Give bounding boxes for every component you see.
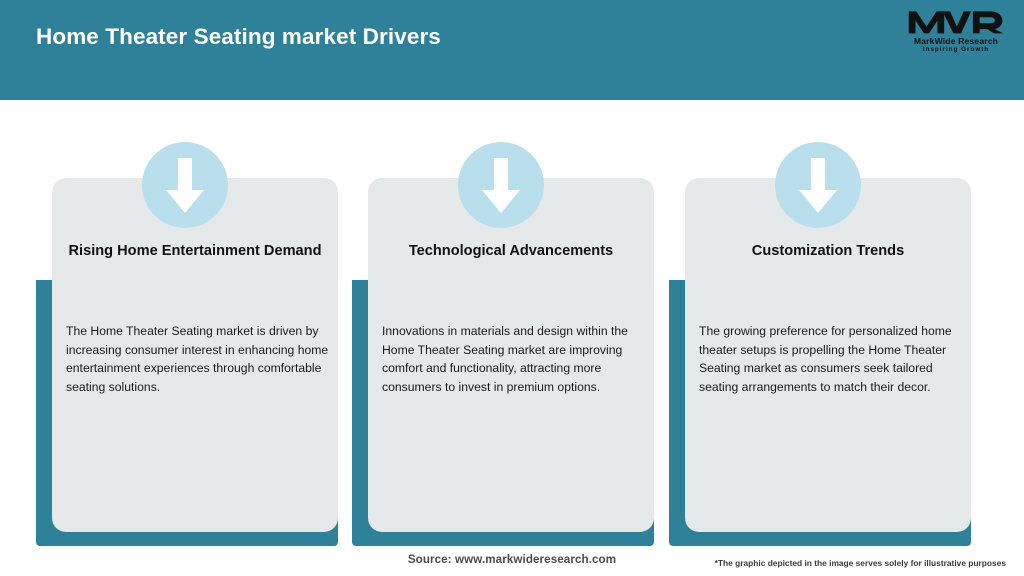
- card-title: Technological Advancements: [382, 240, 640, 262]
- down-arrow-glyph: [797, 158, 839, 214]
- driver-card: Rising Home Entertainment Demand The Hom…: [36, 100, 338, 546]
- brand-logo: MarkWide Research Inspiring Growth: [904, 8, 1008, 60]
- driver-card: Technological Advancements Innovations i…: [352, 100, 654, 546]
- card-title: Customization Trends: [699, 240, 957, 262]
- logo-tagline: Inspiring Growth: [904, 46, 1008, 54]
- card-body-text: The Home Theater Seating market is drive…: [66, 322, 334, 396]
- card-body-text: Innovations in materials and design with…: [382, 322, 650, 396]
- card-body-text: The growing preference for personalized …: [699, 322, 967, 396]
- page-title: Home Theater Seating market Drivers: [36, 24, 441, 50]
- mwr-logomark-icon: [904, 8, 1008, 35]
- down-arrow-glyph: [164, 158, 206, 214]
- down-arrow-glyph: [480, 158, 522, 214]
- disclaimer-note: *The graphic depicted in the image serve…: [715, 558, 1006, 568]
- driver-card: Customization Trends The growing prefere…: [669, 100, 971, 546]
- page-header: Home Theater Seating market Drivers Mark…: [0, 0, 1024, 100]
- down-arrow-icon: [458, 142, 544, 228]
- drivers-card-row: Rising Home Entertainment Demand The Hom…: [0, 100, 1024, 546]
- down-arrow-icon: [775, 142, 861, 228]
- card-title: Rising Home Entertainment Demand: [66, 240, 324, 262]
- logo-company-name: MarkWide Research: [904, 36, 1008, 46]
- down-arrow-icon: [142, 142, 228, 228]
